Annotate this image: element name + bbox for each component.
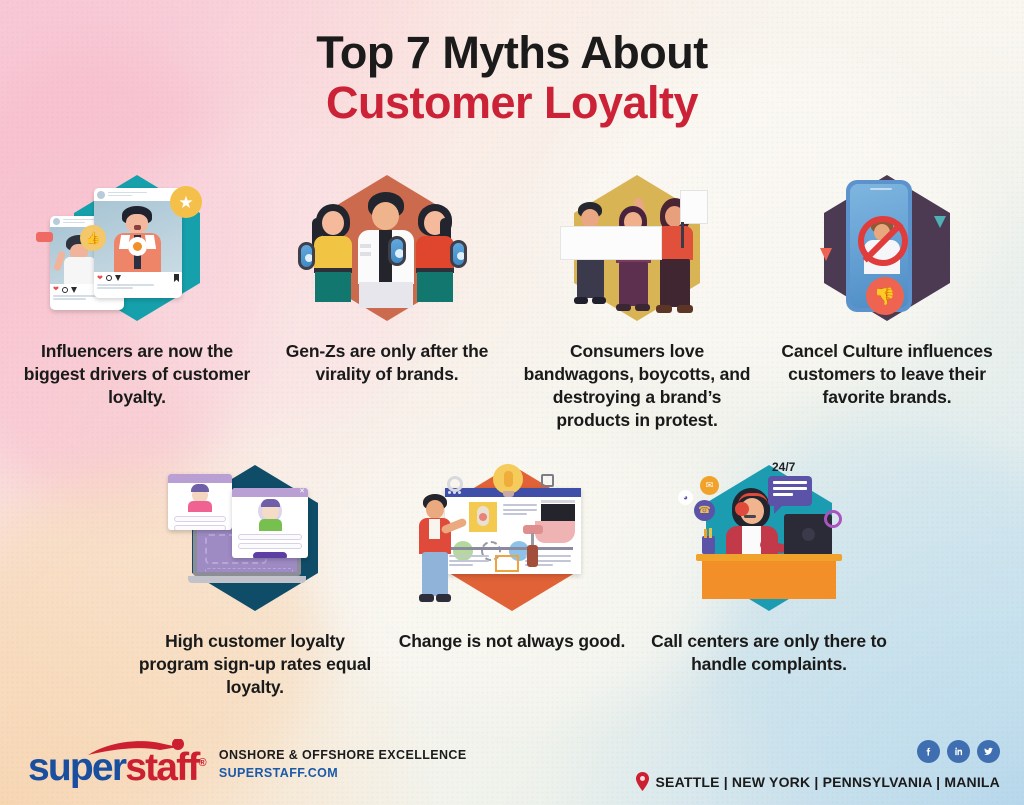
close-icon[interactable]: ✕ <box>299 488 305 495</box>
map-pin-icon <box>635 772 650 791</box>
page-header: Top 7 Myths About Customer Loyalty <box>0 28 1024 129</box>
lightbulb-icon <box>493 464 523 494</box>
brand-block: superstaff® ONSHORE & OFFSHORE EXCELLENC… <box>28 746 467 788</box>
username-field[interactable] <box>238 534 302 540</box>
window-titlebar: ✕ <box>232 488 308 497</box>
chat-icon-badge: ✉ <box>700 476 719 495</box>
superstaff-logo[interactable]: superstaff® <box>28 748 205 787</box>
myth-card-3: Consumers love bandwagons, boycotts, and… <box>514 168 760 432</box>
social-links <box>635 740 1001 763</box>
website-url[interactable]: SUPERSTAFF.COM <box>219 764 467 783</box>
checkbox-icon <box>541 474 554 487</box>
smartphone <box>388 236 406 266</box>
myth-caption: Gen-Zs are only after the virality of br… <box>264 340 510 386</box>
facebook-icon[interactable] <box>917 740 940 763</box>
myth-caption: Change is not always good. <box>399 630 626 653</box>
logo-text-staff: staff <box>125 746 198 789</box>
registered-mark: ® <box>199 757 205 769</box>
locations-text: SEATTLE | NEW YORK | PENNSYLVANIA | MANI… <box>656 774 1001 790</box>
myth-3-illustration <box>532 168 742 328</box>
megaphone-icon <box>128 237 147 256</box>
linkedin-icon[interactable] <box>947 740 970 763</box>
office-locations: SEATTLE | NEW YORK | PENNSYLVANIA | MANI… <box>635 772 1001 791</box>
myth-1-illustration: ❤ <box>32 168 242 328</box>
bookmark-icon <box>174 274 179 282</box>
ring-icon-badge <box>824 510 842 528</box>
footer-right: SEATTLE | NEW YORK | PENNSYLVANIA | MANI… <box>635 740 1001 791</box>
post-meta-lines <box>108 192 179 198</box>
myth-2-illustration <box>282 168 492 328</box>
signup-window-front: ✕ <box>232 488 308 558</box>
myth-card-4: 👎 👎 Cancel Culture influences customers … <box>764 168 1010 432</box>
myth-caption: High customer loyalty program sign-up ra… <box>132 630 378 699</box>
myth-6-illustration <box>407 458 617 618</box>
avatar <box>53 218 60 225</box>
logo-wordmark: superstaff® <box>28 748 205 787</box>
thumbs-up-badge-icon: 👍 <box>80 225 106 251</box>
social-post-front: ❤ <box>94 188 182 298</box>
myth-caption: Call centers are only there to handle co… <box>646 630 892 676</box>
phone-icon-badge: ☎ <box>694 500 715 521</box>
post-image <box>94 201 182 272</box>
signup-window-back <box>168 474 232 530</box>
myth-card-7: 24/7 ✉ ☎ ◕ <box>646 458 892 699</box>
twitter-icon[interactable] <box>977 740 1000 763</box>
protest-banner <box>560 226 662 260</box>
form-field[interactable] <box>174 525 226 530</box>
password-field[interactable] <box>238 543 302 549</box>
thumbs-down-bubble-red: 👎 <box>866 277 904 315</box>
bubble-tail-red <box>820 248 832 261</box>
desk-surface <box>696 554 842 561</box>
bubble-tail-teal <box>934 216 946 228</box>
desk-front <box>702 561 836 599</box>
image-placeholder-icon <box>495 555 519 572</box>
myth-4-illustration: 👎 👎 <box>782 168 992 328</box>
wifi-icon-badge: ◕ <box>678 490 693 505</box>
reaction-pill-icon <box>36 232 53 242</box>
form-field[interactable] <box>174 516 226 522</box>
page-title-line-1: Top 7 Myths About <box>0 28 1024 78</box>
person-center <box>350 192 420 308</box>
smartphone <box>298 242 315 270</box>
website-mockup <box>445 488 581 574</box>
avatar <box>97 191 105 199</box>
myth-row-top: ❤ <box>0 168 1024 432</box>
myth-card-2: Gen-Zs are only after the virality of br… <box>264 168 510 432</box>
person-designer <box>413 494 459 604</box>
myth-caption: Consumers love bandwagons, boycotts, and… <box>514 340 760 432</box>
myth-row-bottom: ✕ High customer loyalty program sign-up … <box>132 458 892 699</box>
infographic-canvas: Top 7 Myths About Customer Loyalty <box>0 0 1024 805</box>
myth-card-1: ❤ <box>14 168 260 432</box>
protest-placard-small <box>680 190 708 224</box>
myth-card-6: Change is not always good. <box>389 458 635 699</box>
pen-cup <box>702 536 715 554</box>
myth-card-5: ✕ High customer loyalty program sign-up … <box>132 458 378 699</box>
page-title-line-2: Customer Loyalty <box>0 78 1024 128</box>
star-badge-icon: ★ <box>170 186 202 218</box>
logo-text-super: super <box>28 746 125 789</box>
brand-tagline: ONSHORE & OFFSHORE EXCELLENCE SUPERSTAFF… <box>219 746 467 788</box>
chat-bubble <box>768 476 812 506</box>
submit-button[interactable] <box>253 552 287 558</box>
post-action-icons: ❤ <box>97 275 121 282</box>
tagline-line-1: ONSHORE & OFFSHORE EXCELLENCE <box>219 746 467 765</box>
smartphone <box>450 240 467 268</box>
window-titlebar <box>168 474 232 483</box>
myth-5-illustration: ✕ <box>150 458 360 618</box>
availability-badge: 24/7 <box>772 460 795 474</box>
myth-7-illustration: 24/7 ✉ ☎ ◕ <box>664 458 874 618</box>
gear-icon <box>447 476 463 492</box>
myth-caption: Influencers are now the biggest drivers … <box>14 340 260 409</box>
page-footer: superstaff® ONSHORE & OFFSHORE EXCELLENC… <box>0 723 1024 805</box>
myth-caption: Cancel Culture influences customers to l… <box>764 340 1010 409</box>
